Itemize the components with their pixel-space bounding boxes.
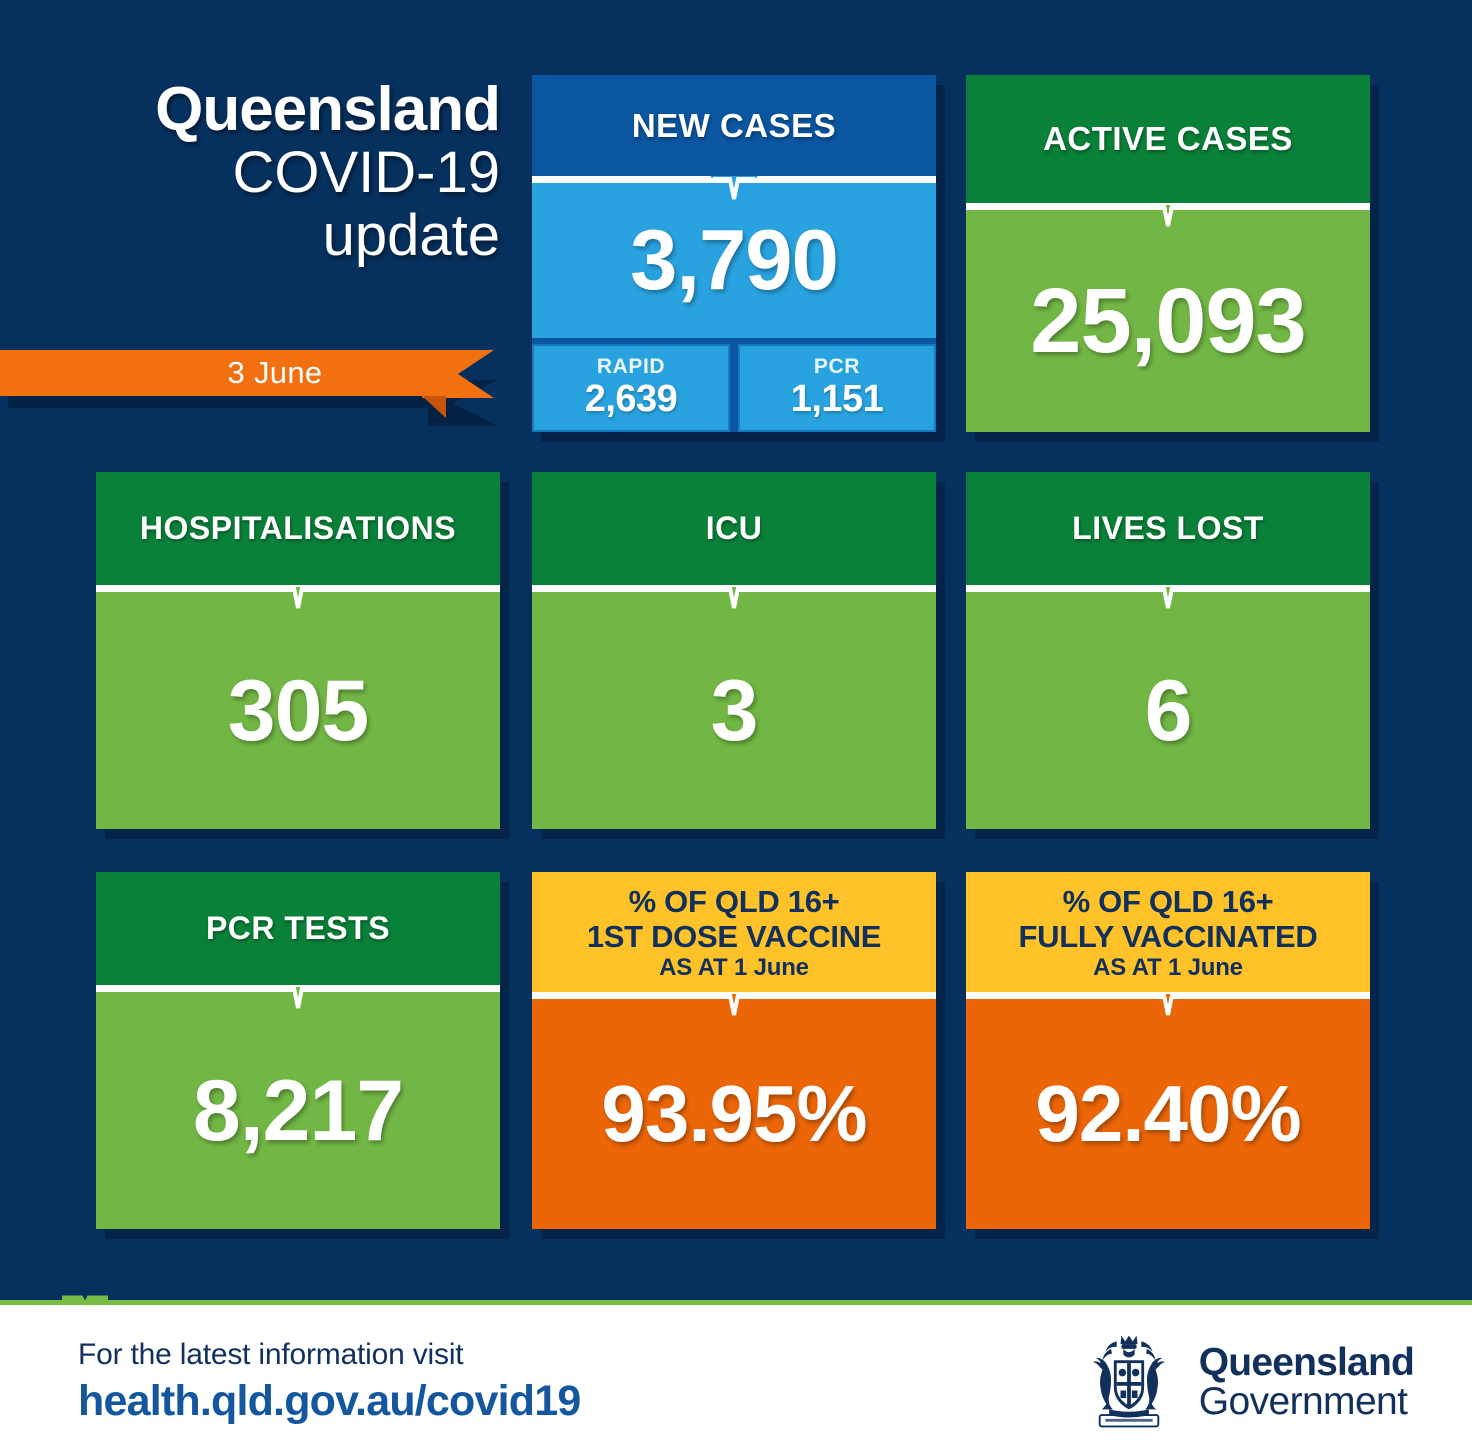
- card-lives-lost-label: LIVES LOST: [1072, 510, 1264, 547]
- sub-box-rapid-value: 2,639: [585, 378, 678, 422]
- card-new-cases: NEW CASES 3,790 RAPID 2,639 PCR 1,151: [532, 75, 936, 432]
- card-icu-label: ICU: [706, 510, 763, 547]
- date-ribbon-shape: 3 June: [0, 350, 490, 414]
- card-lives-lost-value: 6: [1145, 668, 1192, 754]
- card-fully-vaccinated-label-2: FULLY VACCINATED: [1019, 920, 1318, 955]
- card-new-cases-body: 3,790: [532, 183, 936, 338]
- card-hospitalisations-header: HOSPITALISATIONS: [96, 472, 500, 585]
- title-line-update: update: [0, 205, 500, 268]
- card-divider: [96, 985, 500, 992]
- footer-text-block: For the latest information visit health.…: [78, 1338, 580, 1425]
- card-hospitalisations: HOSPITALISATIONS 305: [96, 472, 500, 829]
- card-icu: ICU 3: [532, 472, 936, 829]
- card-fully-vaccinated-body: 92.40%: [966, 999, 1370, 1229]
- card-active-cases-value: 25,093: [1030, 275, 1305, 367]
- card-divider: [966, 992, 1370, 999]
- card-fully-vaccinated-label-3: AS AT 1 June: [1093, 954, 1243, 983]
- card-hospitalisations-body: 305: [96, 592, 500, 829]
- card-lives-lost-header: LIVES LOST: [966, 472, 1370, 585]
- date-label: 3 June: [0, 350, 430, 396]
- sub-box-rapid: RAPID 2,639: [532, 344, 730, 432]
- sub-box-pcr: PCR 1,151: [738, 344, 936, 432]
- chevron-down-icon: [711, 176, 757, 202]
- card-pcr-tests-body: 8,217: [96, 992, 500, 1229]
- new-cases-breakdown: RAPID 2,639 PCR 1,151: [532, 344, 936, 432]
- title-line-queensland: Queensland: [0, 78, 500, 142]
- card-active-cases: ACTIVE CASES 25,093: [966, 75, 1370, 432]
- chevron-down-icon: [275, 585, 321, 611]
- card-first-dose-vaccine: % OF QLD 16+ 1ST DOSE VACCINE AS AT 1 Ju…: [532, 872, 936, 1229]
- card-icu-header: ICU: [532, 472, 936, 585]
- title-line-covid19: COVID-19: [0, 142, 500, 205]
- card-pcr-tests-label: PCR TESTS: [206, 910, 390, 947]
- card-pcr-tests-header: PCR TESTS: [96, 872, 500, 985]
- card-active-cases-header: ACTIVE CASES: [966, 75, 1370, 203]
- logo-wordmark: Queensland Government: [1199, 1343, 1414, 1421]
- card-divider: [966, 585, 1370, 592]
- card-first-dose-vaccine-label-1: % OF QLD 16+: [629, 885, 840, 920]
- logo-line-queensland: Queensland: [1199, 1343, 1414, 1382]
- card-icu-body: 3: [532, 592, 936, 829]
- card-divider: [532, 176, 936, 183]
- card-divider: [966, 203, 1370, 210]
- card-divider: [532, 585, 936, 592]
- chevron-down-icon: [275, 985, 321, 1011]
- card-pcr-tests: PCR TESTS 8,217: [96, 872, 500, 1229]
- card-hospitalisations-label: HOSPITALISATIONS: [140, 510, 456, 547]
- footer-intro-text: For the latest information visit: [78, 1338, 580, 1373]
- logo-line-government: Government: [1199, 1382, 1414, 1421]
- card-active-cases-body: 25,093: [966, 210, 1370, 432]
- footer-url-link[interactable]: health.qld.gov.au/covid19: [78, 1377, 580, 1425]
- card-fully-vaccinated-label-1: % OF QLD 16+: [1063, 885, 1274, 920]
- card-active-cases-label: ACTIVE CASES: [1043, 120, 1293, 158]
- card-pcr-tests-value: 8,217: [193, 1068, 403, 1154]
- card-lives-lost-body: 6: [966, 592, 1370, 829]
- chevron-down-icon: [62, 1274, 108, 1304]
- sub-box-pcr-label: PCR: [814, 355, 860, 378]
- chevron-down-icon: [1145, 585, 1191, 611]
- card-new-cases-value: 3,790: [630, 218, 838, 303]
- footer: For the latest information visit health.…: [0, 1300, 1472, 1452]
- queensland-government-logo: Queensland Government: [1077, 1330, 1414, 1434]
- card-hospitalisations-value: 305: [228, 668, 369, 754]
- card-first-dose-vaccine-label-2: 1ST DOSE VACCINE: [587, 920, 881, 955]
- card-new-cases-header: NEW CASES: [532, 75, 936, 176]
- card-lives-lost: LIVES LOST 6: [966, 472, 1370, 829]
- card-first-dose-vaccine-label-3: AS AT 1 June: [659, 954, 809, 983]
- card-fully-vaccinated-header: % OF QLD 16+ FULLY VACCINATED AS AT 1 Ju…: [966, 872, 1370, 992]
- date-ribbon: 3 June: [0, 350, 500, 442]
- chevron-down-icon: [1145, 203, 1191, 229]
- coat-of-arms-icon: [1077, 1330, 1181, 1434]
- sub-box-pcr-value: 1,151: [791, 378, 884, 422]
- chevron-down-icon: [711, 992, 757, 1018]
- card-new-cases-label: NEW CASES: [632, 107, 836, 145]
- card-divider: [532, 992, 936, 999]
- chevron-down-icon: [1145, 992, 1191, 1018]
- card-fully-vaccinated-value: 92.40%: [1035, 1074, 1300, 1154]
- card-first-dose-vaccine-value: 93.95%: [601, 1074, 866, 1154]
- page-title: Queensland COVID-19 update: [0, 78, 500, 268]
- card-first-dose-vaccine-header: % OF QLD 16+ 1ST DOSE VACCINE AS AT 1 Ju…: [532, 872, 936, 992]
- card-first-dose-vaccine-body: 93.95%: [532, 999, 936, 1229]
- sub-box-rapid-label: RAPID: [597, 355, 665, 378]
- chevron-down-icon: [711, 585, 757, 611]
- card-fully-vaccinated: % OF QLD 16+ FULLY VACCINATED AS AT 1 Ju…: [966, 872, 1370, 1229]
- card-icu-value: 3: [711, 668, 758, 754]
- infographic-canvas: Queensland COVID-19 update 3 June NEW CA…: [0, 0, 1472, 1452]
- footer-divider: [0, 1300, 1472, 1305]
- card-divider: [96, 585, 500, 592]
